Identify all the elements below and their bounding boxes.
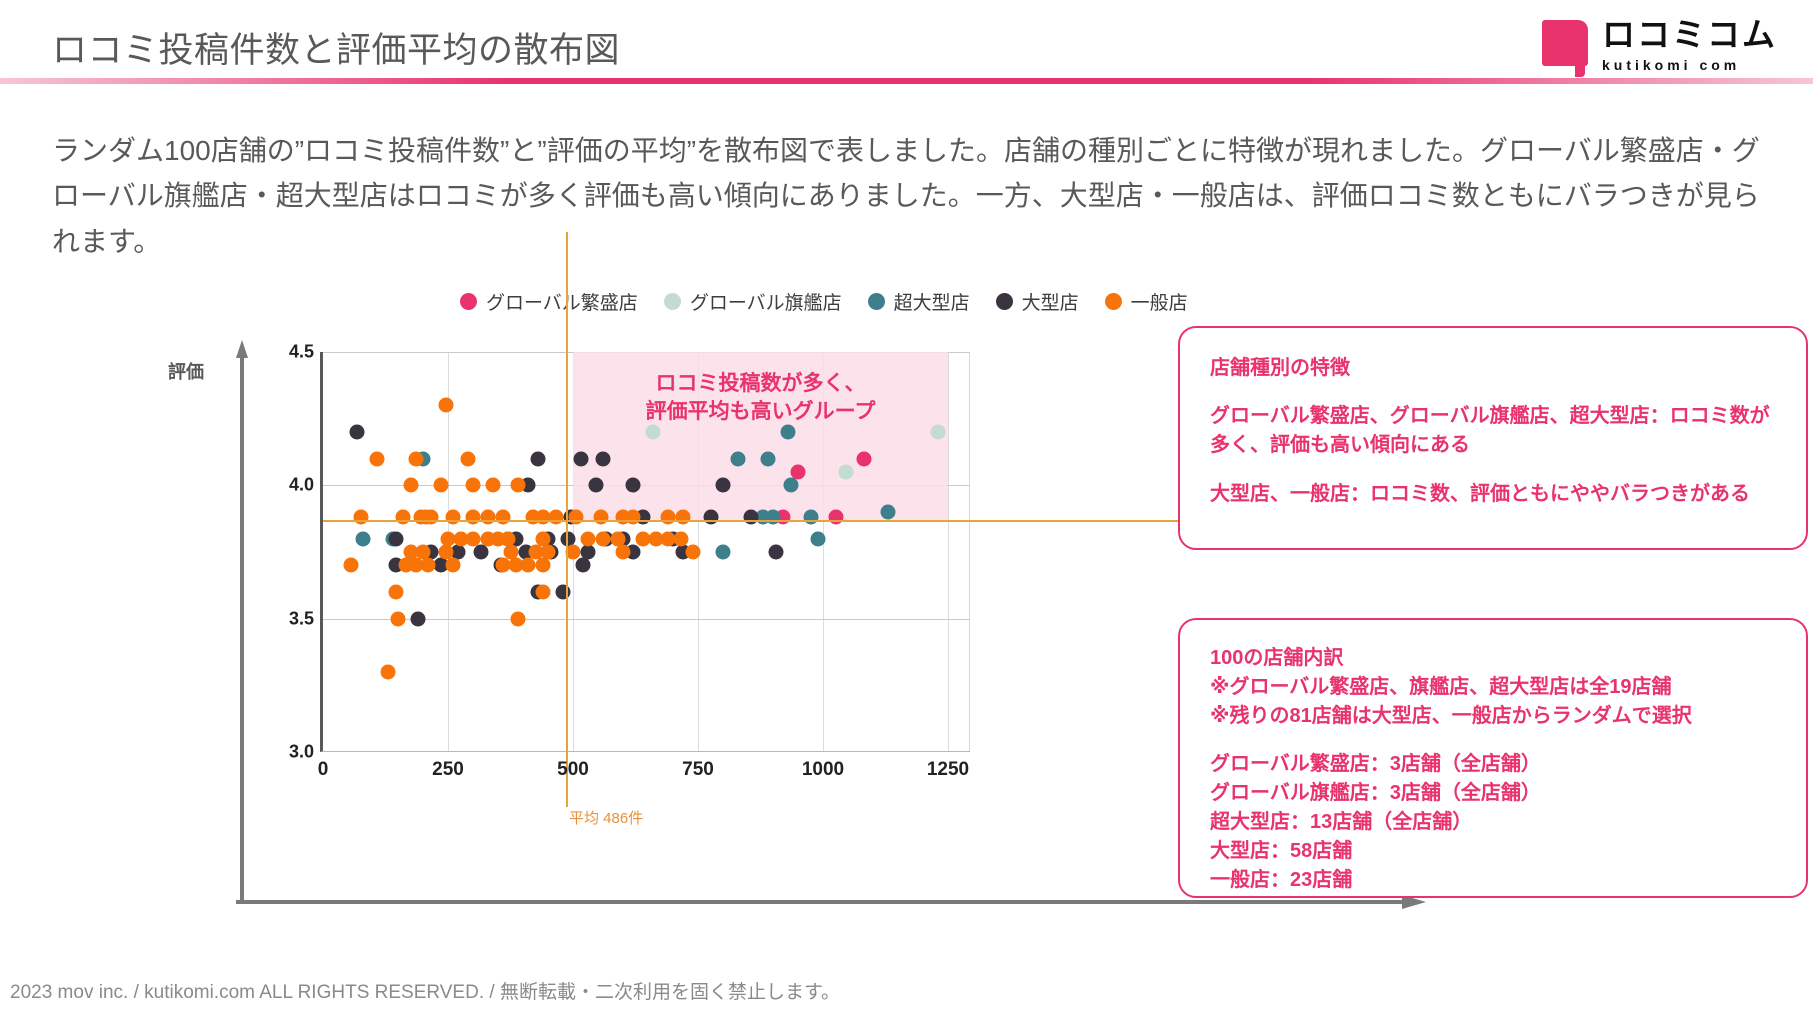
data-point-一般店 — [596, 531, 611, 546]
data-point-一般店 — [511, 478, 526, 493]
y-axis-tick-label: 4.0 — [289, 475, 314, 496]
legend-swatch-icon — [996, 293, 1013, 310]
data-point-大型店 — [531, 451, 546, 466]
x-axis-tick-label: 0 — [318, 759, 329, 781]
data-point-一般店 — [343, 558, 358, 573]
data-point-大型店 — [588, 478, 603, 493]
data-point-一般店 — [446, 510, 461, 525]
data-point-一般店 — [391, 611, 406, 626]
page-title: ロコミ投稿件数と評価平均の散布図 — [52, 22, 620, 73]
legend-label: 一般店 — [1131, 288, 1188, 315]
logo-tagline: kutikomi com — [1602, 57, 1777, 73]
legend-label: グローバル旗艦店 — [690, 288, 842, 315]
legend-label: 大型店 — [1022, 288, 1079, 315]
data-point-一般店 — [581, 531, 596, 546]
data-point-一般店 — [673, 531, 688, 546]
data-point-一般店 — [446, 558, 461, 573]
data-point-一般店 — [381, 665, 396, 680]
data-point-一般店 — [676, 510, 691, 525]
data-point-一般店 — [466, 531, 481, 546]
brand-logo: ロコミコム kutikomi com — [1542, 18, 1777, 73]
callout-features-para2: 大型店、一般店：ロコミ数、評価ともにややバラつきがある — [1210, 480, 1778, 509]
highlight-annotation-line1: ロコミ投稿数が多く、 — [656, 372, 866, 395]
data-point-一般店 — [408, 451, 423, 466]
data-point-超大型店 — [356, 531, 371, 546]
data-point-一般店 — [626, 510, 641, 525]
y-axis-tick-label: 4.5 — [289, 342, 314, 363]
callout-breakdown-line4: 大型店：58店舗 — [1210, 837, 1778, 866]
highlight-annotation-line2: 評価平均も高いグループ — [646, 400, 876, 423]
x-axis-tick-label: 1250 — [927, 759, 969, 781]
callout-breakdown-line2: グローバル旗艦店：3店舗（全店舗） — [1210, 779, 1778, 808]
y-axis-tick-label: 3.0 — [289, 742, 314, 763]
data-point-大型店 — [626, 478, 641, 493]
data-point-一般店 — [438, 398, 453, 413]
data-point-一般店 — [568, 510, 583, 525]
data-point-一般店 — [686, 545, 701, 560]
data-point-大型店 — [743, 510, 758, 525]
data-point-一般店 — [526, 510, 541, 525]
data-point-一般店 — [511, 611, 526, 626]
y-axis-title: 評価 — [168, 358, 204, 384]
data-point-超大型店 — [731, 451, 746, 466]
data-point-グローバル旗艦店 — [838, 465, 853, 480]
data-point-一般店 — [593, 510, 608, 525]
highlight-annotation: ロコミ投稿数が多く、 評価平均も高いグループ — [573, 370, 948, 427]
data-point-大型店 — [388, 531, 403, 546]
data-point-グローバル繁盛店 — [828, 510, 843, 525]
callout-store-breakdown: 100の店舗内訳 ※グローバル繁盛店、旗艦店、超大型店は全19店舗 ※残りの81… — [1178, 618, 1808, 898]
callout-breakdown-line3: 超大型店：13店舗（全店舗） — [1210, 808, 1778, 837]
legend-item-大型店[interactable]: 大型店 — [996, 288, 1079, 315]
data-point-一般店 — [388, 585, 403, 600]
gridline-vertical — [948, 352, 949, 751]
header-divider — [0, 78, 1813, 84]
data-point-大型店 — [556, 585, 571, 600]
data-point-一般店 — [548, 510, 563, 525]
data-point-グローバル旗艦店 — [646, 425, 661, 440]
callout-breakdown-line5: 一般店：23店舗 — [1210, 866, 1778, 895]
data-point-一般店 — [403, 478, 418, 493]
legend-swatch-icon — [868, 293, 885, 310]
x-axis-tick-label: 250 — [432, 759, 464, 781]
mean-x-label: 平均 486件 — [569, 807, 643, 828]
data-point-一般店 — [486, 478, 501, 493]
data-point-グローバル旗艦店 — [931, 425, 946, 440]
data-point-一般店 — [496, 510, 511, 525]
callout-breakdown-note2: ※残りの81店舗は大型店、一般店からランダムで選択 — [1210, 702, 1778, 731]
data-point-大型店 — [573, 451, 588, 466]
data-point-超大型店 — [781, 425, 796, 440]
data-point-超大型店 — [881, 505, 896, 520]
data-point-超大型店 — [803, 510, 818, 525]
data-point-大型店 — [768, 545, 783, 560]
callout-features-para1: グローバル繁盛店、グローバル旗艦店、超大型店：ロコミ数が多く、評価も高い傾向にあ… — [1210, 402, 1778, 460]
speech-bubble-icon — [1542, 20, 1588, 66]
plot-area: ロコミ投稿数が多く、 評価平均も高いグループ 02505007501000125… — [320, 352, 970, 752]
data-point-一般店 — [461, 451, 476, 466]
x-axis-tick-label: 500 — [557, 759, 589, 781]
data-point-グローバル繁盛店 — [857, 451, 872, 466]
y-axis-tick-label: 3.5 — [289, 608, 314, 629]
lead-paragraph: ランダム100店舗の”ロコミ投稿件数”と”評価の平均”を散布図で表しました。店舗… — [52, 128, 1768, 264]
slide-root: ロコミ投稿件数と評価平均の散布図 ロコミコム kutikomi com ランダム… — [0, 0, 1813, 1020]
legend-swatch-icon — [1105, 293, 1122, 310]
y-axis-arrow-icon — [236, 340, 248, 900]
chart-legend: グローバル繁盛店グローバル旗艦店超大型店大型店一般店 — [460, 288, 1188, 315]
data-point-大型店 — [411, 611, 426, 626]
callout-breakdown-line1: グローバル繁盛店：3店舗（全店舗） — [1210, 750, 1778, 779]
legend-label: グローバル繁盛店 — [486, 288, 638, 315]
data-point-一般店 — [661, 510, 676, 525]
data-point-一般店 — [536, 558, 551, 573]
data-point-一般店 — [466, 478, 481, 493]
legend-item-グローバル繁盛店[interactable]: グローバル繁盛店 — [460, 288, 638, 315]
data-point-一般店 — [421, 558, 436, 573]
data-point-大型店 — [576, 558, 591, 573]
data-point-一般店 — [433, 478, 448, 493]
legend-item-一般店[interactable]: 一般店 — [1105, 288, 1188, 315]
callout-store-features: 店舗種別の特徴 グローバル繁盛店、グローバル旗艦店、超大型店：ロコミ数が多く、評… — [1178, 326, 1808, 550]
data-point-超大型店 — [716, 545, 731, 560]
legend-swatch-icon — [460, 293, 477, 310]
legend-label: 超大型店 — [894, 288, 970, 315]
data-point-一般店 — [566, 545, 581, 560]
data-point-一般店 — [521, 558, 536, 573]
data-point-一般店 — [536, 585, 551, 600]
callout-features-heading: 店舗種別の特徴 — [1210, 354, 1778, 382]
data-point-一般店 — [353, 510, 368, 525]
data-point-一般店 — [616, 545, 631, 560]
data-point-超大型店 — [761, 451, 776, 466]
data-point-大型店 — [350, 425, 365, 440]
legend-swatch-icon — [664, 293, 681, 310]
callout-breakdown-heading: 100の店舗内訳 — [1210, 644, 1778, 673]
data-point-一般店 — [396, 510, 411, 525]
data-point-超大型店 — [766, 510, 781, 525]
spacer — [1210, 732, 1778, 750]
x-axis-tick-label: 750 — [682, 759, 714, 781]
data-point-超大型店 — [783, 478, 798, 493]
copyright-footer: 2023 mov inc. / kutikomi.com ALL RIGHTS … — [10, 977, 840, 1004]
data-point-大型店 — [703, 510, 718, 525]
legend-item-グローバル旗艦店[interactable]: グローバル旗艦店 — [664, 288, 842, 315]
callout-breakdown-note1: ※グローバル繁盛店、旗艦店、超大型店は全19店舗 — [1210, 673, 1778, 702]
scatter-chart: 評価 ロコミ数 グローバル繁盛店グローバル旗艦店超大型店大型店一般店 ロコミ投稿… — [150, 330, 1150, 910]
data-point-一般店 — [413, 510, 428, 525]
x-axis-tick-label: 1000 — [802, 759, 844, 781]
data-point-一般店 — [481, 510, 496, 525]
data-point-大型店 — [596, 451, 611, 466]
data-point-一般店 — [466, 510, 481, 525]
logo-wordmark: ロコミコム — [1602, 18, 1777, 53]
data-point-超大型店 — [811, 531, 826, 546]
legend-item-超大型店[interactable]: 超大型店 — [868, 288, 970, 315]
data-point-大型店 — [716, 478, 731, 493]
data-point-一般店 — [370, 451, 385, 466]
data-point-大型店 — [473, 545, 488, 560]
